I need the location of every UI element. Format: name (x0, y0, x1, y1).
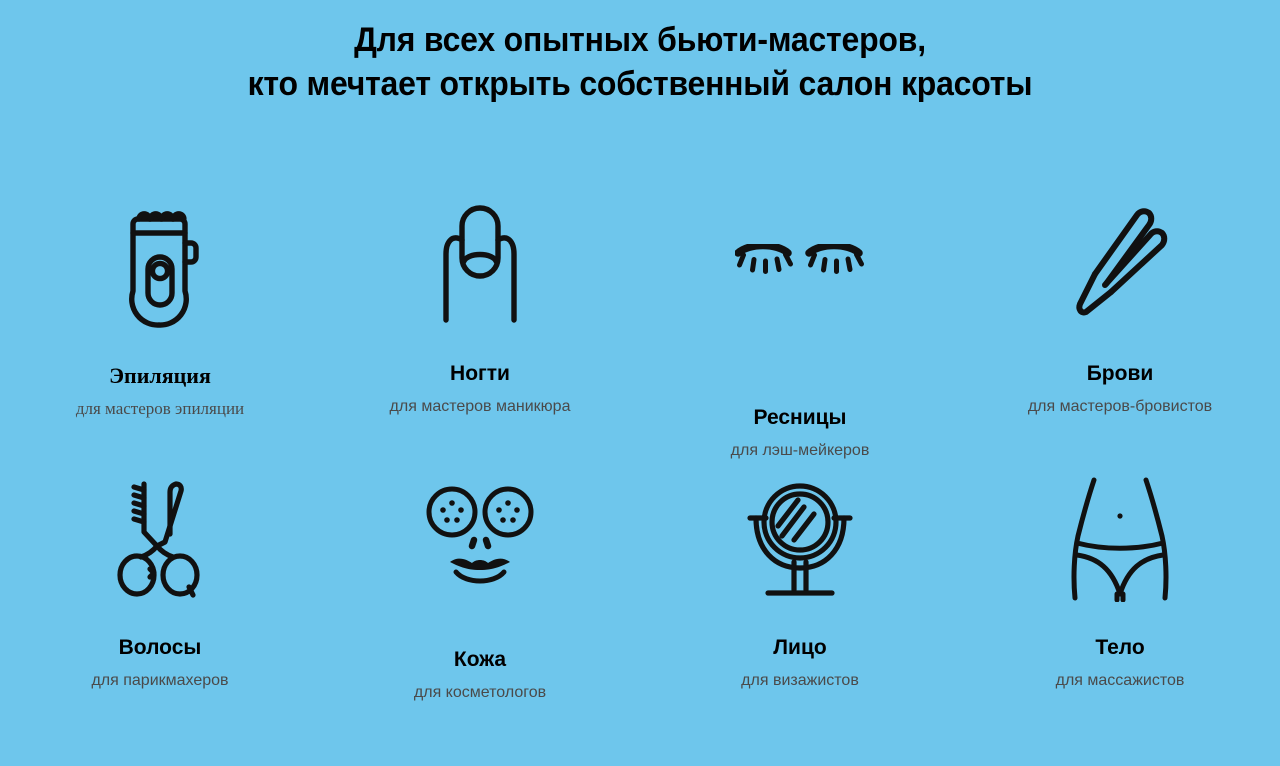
category-item-lashes[interactable]: Ресницы для лэш-мейкеров (640, 196, 960, 472)
category-item-brows[interactable]: Брови для мастеров-бровистов (960, 196, 1280, 472)
page-title-line-1: Для всех опытных бьюти-мастеров, (38, 18, 1241, 62)
category-item-body[interactable]: Тело для массажистов (960, 472, 1280, 748)
category-subtitle: для лэш-мейкеров (731, 441, 870, 461)
category-item-hair[interactable]: Волосы для парикмахеров (0, 472, 320, 748)
category-subtitle: для косметологов (414, 683, 546, 703)
category-title: Ресницы (753, 406, 846, 430)
category-subtitle: для мастеров маникюра (390, 397, 571, 417)
category-grid: Эпиляция для мастеров эпиляции Ногти для… (0, 196, 1280, 748)
page-title-line-2: кто мечтает открыть собственный салон кр… (38, 62, 1241, 106)
category-title: Волосы (119, 636, 202, 660)
category-subtitle: для массажистов (1056, 671, 1185, 691)
category-title: Тело (1095, 636, 1144, 660)
category-title: Кожа (454, 648, 506, 672)
category-item-face[interactable]: Лицо для визажистов (640, 472, 960, 748)
category-item-epilation[interactable]: Эпиляция для мастеров эпиляции (0, 196, 320, 472)
promo-section: Для всех опытных бьюти-мастеров, кто меч… (0, 0, 1280, 766)
vanity-mirror-icon (742, 472, 858, 634)
category-subtitle: для визажистов (741, 671, 859, 691)
cucumber-face-mask-icon (422, 472, 538, 646)
eyelashes-icon (735, 196, 865, 404)
category-subtitle: для мастеров-бровистов (1028, 397, 1212, 417)
thinning-scissors-icon (113, 472, 207, 634)
category-title: Ногти (450, 362, 510, 386)
category-title: Брови (1087, 362, 1154, 386)
category-subtitle: для мастеров эпиляции (76, 399, 244, 419)
category-item-nails[interactable]: Ногти для мастеров маникюра (320, 196, 640, 472)
category-title: Лицо (773, 636, 826, 660)
category-title: Эпиляция (109, 364, 211, 388)
category-item-skin[interactable]: Кожа для косметологов (320, 472, 640, 748)
epilator-icon (117, 196, 203, 362)
page-title: Для всех опытных бьюти-мастеров, кто меч… (0, 0, 1280, 106)
tweezers-icon (1070, 196, 1170, 360)
fingernail-icon (437, 196, 523, 360)
female-torso-icon (1064, 472, 1176, 634)
category-subtitle: для парикмахеров (91, 671, 228, 691)
